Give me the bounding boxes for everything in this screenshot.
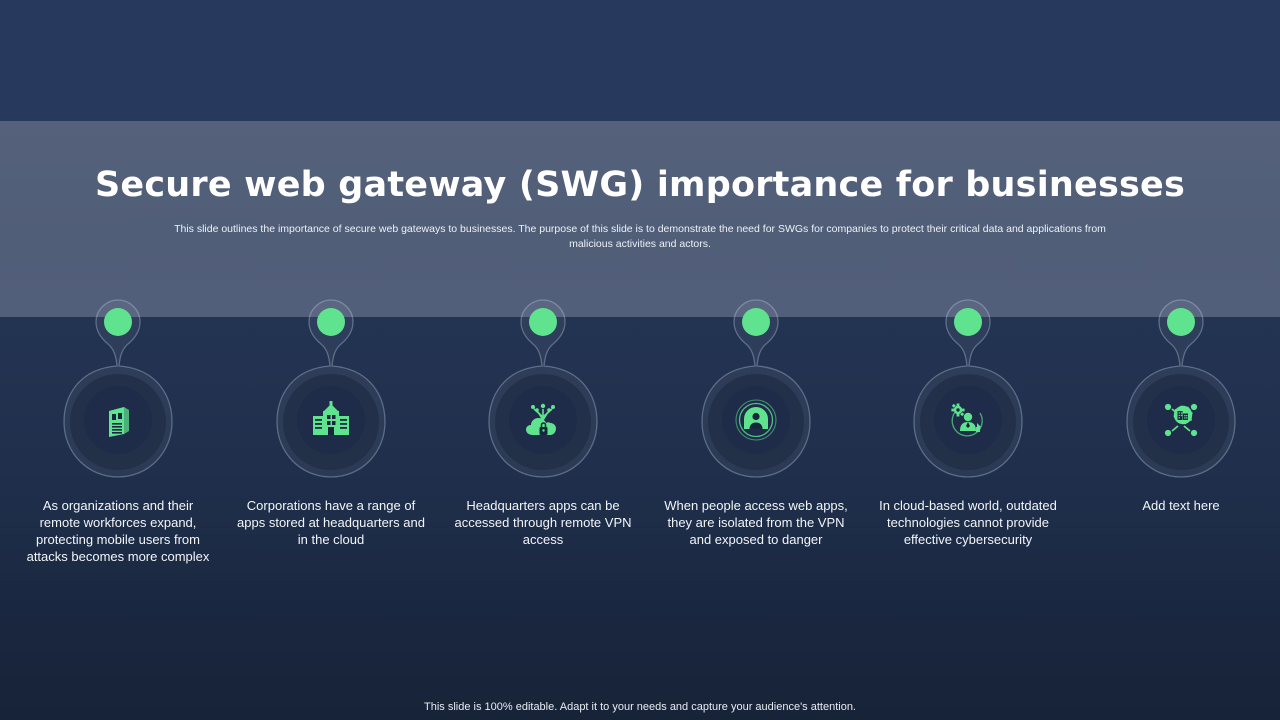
slide-footer-note: This slide is 100% editable. Adapt it to…: [0, 701, 1280, 713]
marker-caption: Headquarters apps can be accessed throug…: [448, 497, 638, 548]
marker-columns: As organizations and their remote workfo…: [0, 0, 1280, 720]
marker-caption: In cloud-based world, outdated technolog…: [873, 497, 1063, 548]
marker-caption: As organizations and their remote workfo…: [23, 497, 213, 566]
marker-caption: Corporations have a range of apps stored…: [236, 497, 426, 548]
marker-caption: When people access web apps, they are is…: [661, 497, 851, 548]
cloud-lock-network-icon: [509, 386, 577, 454]
gear-building-network-icon: [1147, 386, 1215, 454]
office-building-icon: [297, 386, 365, 454]
user-shield-icon: [722, 386, 790, 454]
user-gear-refresh-icon: [934, 386, 1002, 454]
server-rack-icon: [84, 386, 152, 454]
slide-canvas: Secure web gateway (SWG) importance for …: [0, 0, 1280, 720]
marker-caption: Add text here: [1086, 497, 1276, 514]
